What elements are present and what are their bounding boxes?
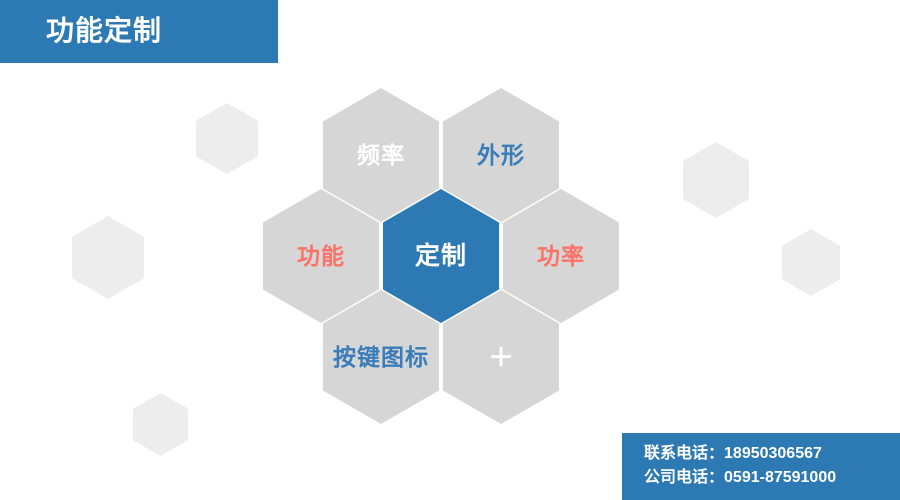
- company-phone-value: 0591-87591000: [724, 469, 836, 486]
- bg-hex-3: [683, 142, 749, 218]
- company-phone: 公司电话：0591-87591000: [644, 466, 900, 490]
- hex-power-label: 功率: [537, 245, 585, 268]
- contact-info-box: 联系电话：18950306567 公司电话：0591-87591000: [622, 433, 900, 500]
- plus-icon: +: [489, 337, 512, 377]
- slide-canvas: 功能定制 频率 外形 功能 功率 按键图标 + 定制 联系电话：18950306…: [0, 0, 900, 500]
- bg-hex-2: [72, 216, 144, 299]
- hex-key-icon-label: 按键图标: [333, 346, 429, 369]
- bg-hex-5: [133, 393, 188, 456]
- contact-phone: 联系电话：18950306567: [644, 442, 900, 466]
- hex-frequency-label: 频率: [357, 144, 405, 167]
- bg-hex-1: [196, 103, 258, 174]
- contact-phone-value: 18950306567: [724, 445, 822, 462]
- hex-function-label: 功能: [297, 245, 345, 268]
- hex-appearance-label: 外形: [477, 144, 525, 167]
- contact-phone-label: 联系电话：: [644, 445, 724, 462]
- hex-center-label: 定制: [415, 244, 467, 269]
- page-title: 功能定制: [46, 9, 162, 53]
- bg-hex-4: [782, 229, 840, 296]
- company-phone-label: 公司电话：: [644, 469, 724, 486]
